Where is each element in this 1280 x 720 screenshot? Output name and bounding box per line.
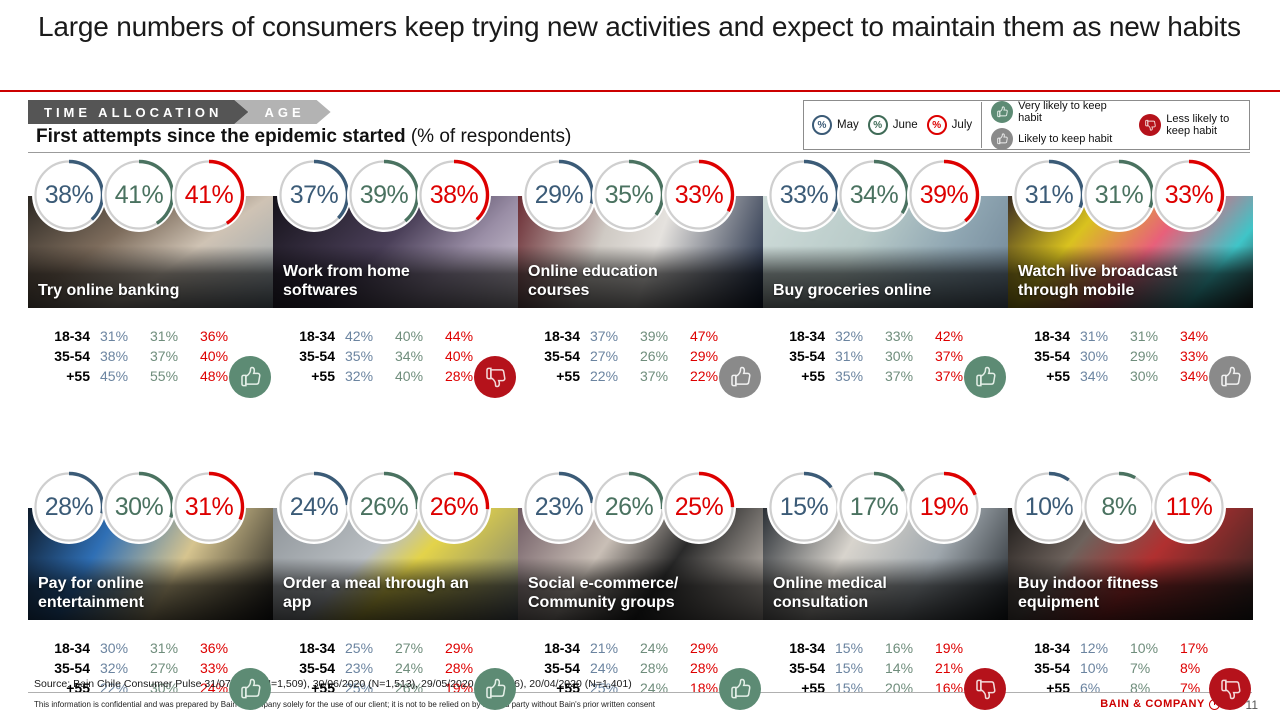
stat-june: 34% xyxy=(395,348,445,364)
age-label: +55 xyxy=(1008,368,1080,384)
donut-value: 38% xyxy=(45,181,94,210)
thumb-down-icon xyxy=(1139,114,1161,136)
age-label: 18-34 xyxy=(1008,640,1080,656)
stat-may: 21% xyxy=(590,640,640,656)
thumb-up-icon xyxy=(719,356,761,398)
legend-label-less-likely: Less likely to keep habit xyxy=(1166,113,1241,137)
percent-ring-icon: % xyxy=(812,115,832,135)
age-breakdown-table: 18-34 31% 31% 36% 35-54 38% 37% 40% +55 … xyxy=(28,328,260,388)
legend-item-july: % July xyxy=(927,115,972,135)
donut-value: 23% xyxy=(535,493,584,522)
donut-group: 33% 34% 39% xyxy=(767,158,1008,230)
age-label: 18-34 xyxy=(763,328,835,344)
stat-july: 42% xyxy=(935,328,985,344)
age-label: +55 xyxy=(1008,680,1080,696)
bain-logo: BAIN & COMPANY xyxy=(1100,698,1220,710)
percent-ring-icon: % xyxy=(868,115,888,135)
donut-value: 26% xyxy=(360,493,409,522)
activity-card[interactable]: 23% 26% 25% Social e-commerce/ Community… xyxy=(518,470,763,700)
donut-may: 28% xyxy=(32,470,106,544)
donut-june: 35% xyxy=(592,158,666,232)
card-title: Buy indoor fitness equipment xyxy=(1018,574,1207,612)
age-label: 18-34 xyxy=(273,640,345,656)
donut-value: 39% xyxy=(360,181,409,210)
donut-value: 33% xyxy=(675,181,724,210)
donut-june: 26% xyxy=(347,470,421,544)
legend-item-less-likely: Less likely to keep habit xyxy=(1139,113,1241,137)
donut-june: 26% xyxy=(592,470,666,544)
stat-july: 36% xyxy=(200,328,250,344)
donut-may: 10% xyxy=(1012,470,1086,544)
stats-row: 35-54 15% 14% 21% xyxy=(763,660,995,680)
stats-row: 18-34 30% 31% 36% xyxy=(28,640,260,660)
stat-may: 32% xyxy=(345,368,395,384)
donut-group: 38% 41% 41% xyxy=(32,158,273,230)
stat-may: 23% xyxy=(345,660,395,676)
donut-value: 26% xyxy=(605,493,654,522)
donut-value: 19% xyxy=(920,493,969,522)
donut-value: 31% xyxy=(185,493,234,522)
age-label: 35-54 xyxy=(518,348,590,364)
stats-row: 18-34 25% 27% 29% xyxy=(273,640,505,660)
legend: % May % June % July xyxy=(803,100,1250,150)
age-label: 18-34 xyxy=(273,328,345,344)
activity-card[interactable]: 31% 31% 33% Watch live broadcast through… xyxy=(1008,158,1253,388)
legend-label-june: June xyxy=(893,119,918,131)
legend-label-may: May xyxy=(837,119,859,131)
age-label: 35-54 xyxy=(28,348,100,364)
donut-may: 33% xyxy=(767,158,841,232)
stat-june: 27% xyxy=(395,640,445,656)
stat-june: 29% xyxy=(1130,348,1180,364)
age-label: 35-54 xyxy=(273,660,345,676)
donut-group: 29% 35% 33% xyxy=(522,158,763,230)
age-breakdown-table: 18-34 12% 10% 17% 35-54 10% 7% 8% +55 6%… xyxy=(1008,640,1240,700)
legend-item-june: % June xyxy=(868,115,918,135)
age-breakdown-table: 18-34 42% 40% 44% 35-54 35% 34% 40% +55 … xyxy=(273,328,505,388)
stats-row: 35-54 30% 29% 33% xyxy=(1008,348,1240,368)
stat-may: 31% xyxy=(835,348,885,364)
stats-row: 35-54 35% 34% 40% xyxy=(273,348,505,368)
donut-july: 39% xyxy=(907,158,981,232)
footer-divider xyxy=(28,692,1252,693)
stat-may: 31% xyxy=(100,328,150,344)
stats-row: 35-54 23% 24% 28% xyxy=(273,660,505,680)
stat-june: 30% xyxy=(1130,368,1180,384)
donut-value: 38% xyxy=(430,181,479,210)
legend-label-likely: Likely to keep habit xyxy=(1018,133,1112,145)
thumb-down-icon xyxy=(1209,668,1251,710)
activity-card[interactable]: 37% 39% 38% Work from home softwares xyxy=(273,158,518,388)
donut-group: 24% 26% 26% xyxy=(277,470,518,542)
donut-group: 10% 8% 11% xyxy=(1012,470,1253,542)
thumb-up-icon xyxy=(991,101,1013,123)
thumb-up-icon xyxy=(229,668,271,710)
donut-may: 38% xyxy=(32,158,106,232)
stat-june: 37% xyxy=(885,368,935,384)
cards-row: 38% 41% 41% Try online banking 18- xyxy=(28,158,1252,388)
thumb-down-icon xyxy=(474,356,516,398)
stat-june: 33% xyxy=(885,328,935,344)
age-label: 35-54 xyxy=(1008,660,1080,676)
donut-value: 41% xyxy=(115,181,164,210)
age-label: +55 xyxy=(273,368,345,384)
donut-value: 41% xyxy=(185,181,234,210)
card-title: Online education courses xyxy=(528,262,717,300)
stat-july: 17% xyxy=(1180,640,1230,656)
donut-value: 30% xyxy=(115,493,164,522)
donut-july: 19% xyxy=(907,470,981,544)
legend-item-very-likely: Very likely to keep habit xyxy=(991,100,1129,124)
thumb-up-icon xyxy=(719,668,761,710)
stat-may: 24% xyxy=(590,660,640,676)
stats-row: 35-54 38% 37% 40% xyxy=(28,348,260,368)
age-breakdown-table: 18-34 15% 16% 19% 35-54 15% 14% 21% +55 … xyxy=(763,640,995,700)
age-label: 18-34 xyxy=(763,640,835,656)
stats-row: +55 22% 37% 22% xyxy=(518,368,750,388)
legend-months: % May % June % July xyxy=(812,115,972,135)
stat-may: 35% xyxy=(345,348,395,364)
activity-card[interactable]: 29% 35% 33% Online education courses xyxy=(518,158,763,388)
slide: Large numbers of consumers keep trying n… xyxy=(0,0,1280,720)
age-label: +55 xyxy=(518,368,590,384)
stats-row: 35-54 24% 28% 28% xyxy=(518,660,750,680)
stat-june: 30% xyxy=(885,348,935,364)
donut-value: 31% xyxy=(1095,181,1144,210)
donut-may: 23% xyxy=(522,470,596,544)
card-title: Watch live broadcast through mobile xyxy=(1018,262,1207,300)
donut-value: 8% xyxy=(1101,493,1136,522)
confidentiality-note: This information is confidential and was… xyxy=(34,700,655,709)
stat-june: 28% xyxy=(640,660,690,676)
donut-value: 11% xyxy=(1166,493,1213,522)
activity-card[interactable]: 28% 30% 31% Pay for online entertainment xyxy=(28,470,273,700)
subtitle-bold: First attempts since the epidemic starte… xyxy=(36,126,406,147)
stat-june: 8% xyxy=(1130,680,1180,696)
donut-june: 39% xyxy=(347,158,421,232)
stats-row: +55 32% 40% 28% xyxy=(273,368,505,388)
stat-june: 37% xyxy=(150,348,200,364)
donut-value: 29% xyxy=(535,181,584,210)
card-title: Pay for online entertainment xyxy=(38,574,227,612)
donut-value: 39% xyxy=(920,181,969,210)
thumb-up-icon xyxy=(1209,356,1251,398)
stat-june: 26% xyxy=(640,348,690,364)
stats-row: +55 45% 55% 48% xyxy=(28,368,260,388)
legend-habit-col-left: Very likely to keep habit Likely to keep… xyxy=(991,100,1129,150)
age-label: 35-54 xyxy=(273,348,345,364)
activity-card[interactable]: 38% 41% 41% Try online banking 18- xyxy=(28,158,273,388)
legend-habits: Very likely to keep habit Likely to keep… xyxy=(991,100,1241,150)
donut-june: 30% xyxy=(102,470,176,544)
stat-july: 19% xyxy=(935,640,985,656)
stats-row: 18-34 32% 33% 42% xyxy=(763,328,995,348)
tab-age[interactable]: AGE xyxy=(234,100,330,124)
stat-june: 24% xyxy=(640,640,690,656)
title-divider xyxy=(0,90,1280,92)
donut-value: 33% xyxy=(780,181,829,210)
stats-row: 18-34 21% 24% 29% xyxy=(518,640,750,660)
donut-group: 23% 26% 25% xyxy=(522,470,763,542)
stat-june: 31% xyxy=(1130,328,1180,344)
stat-june: 31% xyxy=(150,640,200,656)
age-breakdown-table: 18-34 30% 31% 36% 35-54 32% 27% 33% +55 … xyxy=(28,640,260,700)
stat-may: 30% xyxy=(1080,348,1130,364)
stat-june: 37% xyxy=(640,368,690,384)
age-breakdown-table: 18-34 37% 39% 47% 35-54 27% 26% 29% +55 … xyxy=(518,328,750,388)
donut-may: 24% xyxy=(277,470,351,544)
card-title: Try online banking xyxy=(38,281,227,300)
stat-may: 30% xyxy=(100,640,150,656)
thumb-up-icon xyxy=(474,668,516,710)
stat-june: 20% xyxy=(885,680,935,696)
stat-june: 10% xyxy=(1130,640,1180,656)
legend-item-may: % May xyxy=(812,115,859,135)
donut-july: 31% xyxy=(172,470,246,544)
thumb-up-icon xyxy=(991,128,1013,150)
donut-group: 15% 17% 19% xyxy=(767,470,1008,542)
stat-may: 32% xyxy=(835,328,885,344)
age-label: 35-54 xyxy=(763,660,835,676)
stat-may: 15% xyxy=(835,640,885,656)
stat-may: 15% xyxy=(835,660,885,676)
age-breakdown-table: 18-34 21% 24% 29% 35-54 24% 28% 28% +55 … xyxy=(518,640,750,700)
age-label: +55 xyxy=(763,368,835,384)
activity-card[interactable]: 24% 26% 26% Order a meal through an app xyxy=(273,470,518,700)
thumb-down-icon xyxy=(964,668,1006,710)
card-title: Order a meal through an app xyxy=(283,574,472,612)
legend-label-very-likely: Very likely to keep habit xyxy=(1018,100,1129,124)
stat-may: 34% xyxy=(1080,368,1130,384)
legend-item-likely: Likely to keep habit xyxy=(991,128,1129,150)
donut-value: 33% xyxy=(1165,181,1214,210)
stats-row: 18-34 12% 10% 17% xyxy=(1008,640,1240,660)
stat-may: 37% xyxy=(590,328,640,344)
donut-july: 25% xyxy=(662,470,736,544)
tab-time-allocation[interactable]: TIME ALLOCATION xyxy=(28,100,248,124)
cards-row: 28% 30% 31% Pay for online entertainment xyxy=(28,470,1252,700)
stat-july: 44% xyxy=(445,328,495,344)
age-label: 35-54 xyxy=(28,660,100,676)
card-title: Work from home softwares xyxy=(283,262,472,300)
age-label: 18-34 xyxy=(518,328,590,344)
donut-may: 29% xyxy=(522,158,596,232)
donut-june: 31% xyxy=(1082,158,1156,232)
donut-value: 25% xyxy=(675,493,724,522)
stats-row: +55 35% 37% 37% xyxy=(763,368,995,388)
cards-grid: 38% 41% 41% Try online banking 18- xyxy=(28,158,1252,700)
donut-value: 15% xyxy=(780,493,829,522)
stats-row: +55 6% 8% 7% xyxy=(1008,680,1240,700)
subtitle: First attempts since the epidemic starte… xyxy=(36,126,571,148)
stat-june: 27% xyxy=(150,660,200,676)
percent-ring-icon: % xyxy=(927,115,947,135)
donut-july: 41% xyxy=(172,158,246,232)
stat-june: 7% xyxy=(1130,660,1180,676)
stat-may: 25% xyxy=(345,640,395,656)
thumb-up-icon xyxy=(964,356,1006,398)
stat-may: 42% xyxy=(345,328,395,344)
stat-may: 31% xyxy=(1080,328,1130,344)
donut-may: 15% xyxy=(767,470,841,544)
stat-may: 6% xyxy=(1080,680,1130,696)
source-note: Source: Bain Chile Consumer Pulse 31/07/… xyxy=(34,678,632,690)
stats-row: +55 34% 30% 34% xyxy=(1008,368,1240,388)
donut-value: 31% xyxy=(1025,181,1074,210)
stat-july: 47% xyxy=(690,328,740,344)
donut-group: 31% 31% 33% xyxy=(1012,158,1253,230)
donut-july: 11% xyxy=(1152,470,1226,544)
donut-june: 8% xyxy=(1082,470,1156,544)
stat-may: 10% xyxy=(1080,660,1130,676)
donut-value: 24% xyxy=(290,493,339,522)
legend-label-july: July xyxy=(952,119,972,131)
stat-may: 35% xyxy=(835,368,885,384)
stats-row: 35-54 32% 27% 33% xyxy=(28,660,260,680)
age-label: 35-54 xyxy=(763,348,835,364)
card-title: Social e-commerce/ Community groups xyxy=(528,574,717,612)
stat-july: 29% xyxy=(445,640,495,656)
donut-group: 28% 30% 31% xyxy=(32,470,273,542)
stat-june: 40% xyxy=(395,368,445,384)
tab-bar: TIME ALLOCATION AGE xyxy=(28,100,331,124)
stats-row: 18-34 37% 39% 47% xyxy=(518,328,750,348)
stats-row: +55 15% 20% 16% xyxy=(763,680,995,700)
age-label: 35-54 xyxy=(518,660,590,676)
card-title: Buy groceries online xyxy=(773,281,962,300)
donut-july: 26% xyxy=(417,470,491,544)
stat-june: 14% xyxy=(885,660,935,676)
activity-card[interactable]: 10% 8% 11% Buy indoor fitness equipment xyxy=(1008,470,1253,700)
legend-separator xyxy=(981,102,982,148)
donut-value: 35% xyxy=(605,181,654,210)
age-breakdown-table: 18-34 32% 33% 42% 35-54 31% 30% 37% +55 … xyxy=(763,328,995,388)
activity-card[interactable]: 15% 17% 19% Online medical consultation xyxy=(763,470,1008,700)
donut-may: 31% xyxy=(1012,158,1086,232)
stats-row: 18-34 31% 31% 36% xyxy=(28,328,260,348)
stats-row: 35-54 27% 26% 29% xyxy=(518,348,750,368)
stat-may: 38% xyxy=(100,348,150,364)
donut-group: 37% 39% 38% xyxy=(277,158,518,230)
thumb-up-icon xyxy=(229,356,271,398)
stat-may: 45% xyxy=(100,368,150,384)
stat-june: 24% xyxy=(640,680,690,696)
donut-july: 38% xyxy=(417,158,491,232)
age-breakdown-table: 18-34 31% 31% 34% 35-54 30% 29% 33% +55 … xyxy=(1008,328,1240,388)
stat-may: 12% xyxy=(1080,640,1130,656)
subtitle-light: (% of respondents) xyxy=(411,126,572,147)
age-label: +55 xyxy=(763,680,835,696)
page-title: Large numbers of consumers keep trying n… xyxy=(38,10,1253,44)
donut-may: 37% xyxy=(277,158,351,232)
bain-wordmark: BAIN & COMPANY xyxy=(1100,698,1205,710)
donut-july: 33% xyxy=(1152,158,1226,232)
stats-row: 18-34 15% 16% 19% xyxy=(763,640,995,660)
donut-july: 33% xyxy=(662,158,736,232)
age-label: +55 xyxy=(28,368,100,384)
donut-value: 10% xyxy=(1025,493,1074,522)
age-label: 18-34 xyxy=(28,640,100,656)
stat-may: 32% xyxy=(100,660,150,676)
stat-may: 22% xyxy=(590,368,640,384)
age-breakdown-table: 18-34 25% 27% 29% 35-54 23% 24% 28% +55 … xyxy=(273,640,505,700)
stat-may: 27% xyxy=(590,348,640,364)
stat-july: 29% xyxy=(690,640,740,656)
donut-value: 34% xyxy=(850,181,899,210)
stat-june: 39% xyxy=(640,328,690,344)
activity-card[interactable]: 33% 34% 39% Buy groceries online 1 xyxy=(763,158,1008,388)
stat-june: 16% xyxy=(885,640,935,656)
stat-july: 34% xyxy=(1180,328,1230,344)
donut-june: 41% xyxy=(102,158,176,232)
age-label: 35-54 xyxy=(1008,348,1080,364)
donut-june: 17% xyxy=(837,470,911,544)
stat-june: 55% xyxy=(150,368,200,384)
card-title: Online medical consultation xyxy=(773,574,962,612)
stats-row: 35-54 31% 30% 37% xyxy=(763,348,995,368)
donut-value: 17% xyxy=(850,493,899,522)
stats-row: 18-34 42% 40% 44% xyxy=(273,328,505,348)
donut-june: 34% xyxy=(837,158,911,232)
stats-row: 18-34 31% 31% 34% xyxy=(1008,328,1240,348)
stat-july: 36% xyxy=(200,640,250,656)
donut-value: 28% xyxy=(45,493,94,522)
age-label: 18-34 xyxy=(28,328,100,344)
donut-value: 26% xyxy=(430,493,479,522)
subtitle-divider xyxy=(28,152,1250,153)
stats-row: 35-54 10% 7% 8% xyxy=(1008,660,1240,680)
stat-june: 24% xyxy=(395,660,445,676)
donut-value: 37% xyxy=(290,181,339,210)
age-label: 18-34 xyxy=(518,640,590,656)
stat-may: 15% xyxy=(835,680,885,696)
age-label: 18-34 xyxy=(1008,328,1080,344)
stat-june: 40% xyxy=(395,328,445,344)
stat-june: 31% xyxy=(150,328,200,344)
